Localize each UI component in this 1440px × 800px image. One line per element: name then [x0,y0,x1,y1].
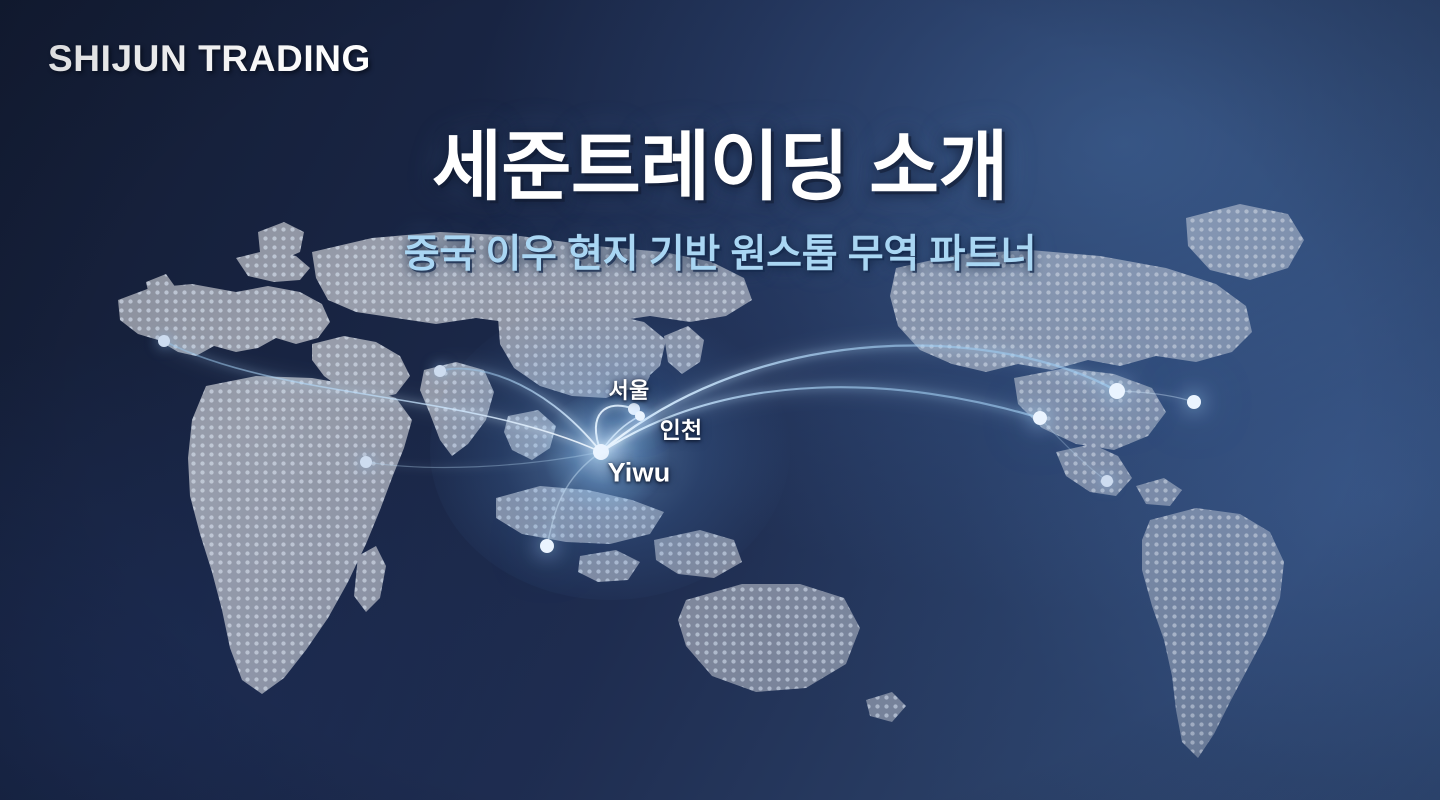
map-label-incheon: 인천 [660,411,703,445]
map-label-seoul: 서울 [609,373,650,405]
brand-logo[interactable]: SHIJUN TRADING [48,38,371,80]
map-label-yiwu: Yiwu [608,458,671,489]
trade-route-arcs [0,0,1440,800]
hero-slide: 서울인천Yiwu SHIJUN TRADING 세준트레이딩 소개 중국 이우 … [0,0,1440,800]
